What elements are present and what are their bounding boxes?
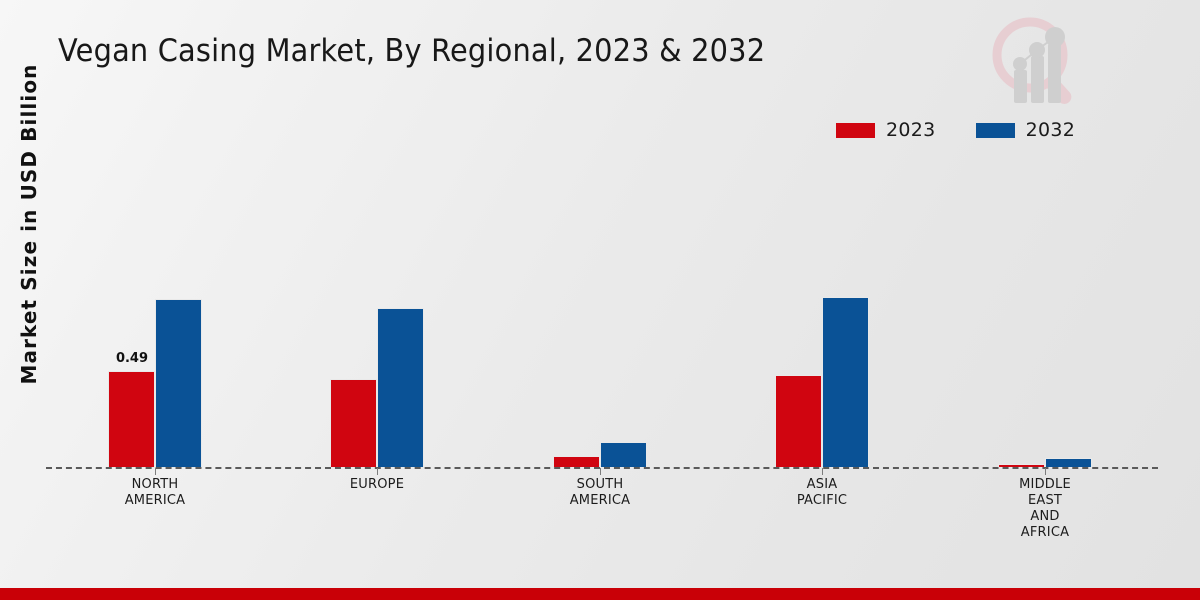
bar-group	[767, 150, 877, 468]
footer-accent-bar	[0, 588, 1200, 600]
market-research-logo-icon	[982, 8, 1088, 108]
bar-2032[interactable]	[377, 308, 424, 468]
x-axis-baseline	[46, 467, 1158, 469]
bars	[100, 150, 210, 468]
x-axis-tick	[155, 468, 156, 475]
category-label-line: EAST	[965, 493, 1125, 509]
category-label-line: AMERICA	[520, 493, 680, 509]
y-axis-title: Market Size in USD Billion	[17, 59, 41, 389]
bars	[767, 150, 877, 468]
chart-container: Vegan Casing Market, By Regional, 2023 &…	[0, 0, 1200, 600]
category-label-line: EUROPE	[297, 477, 457, 493]
category-label-line: AFRICA	[965, 525, 1125, 541]
bar-2032[interactable]	[600, 442, 647, 468]
x-axis-category-label: SOUTHAMERICA	[520, 477, 680, 509]
x-axis-tick	[1045, 468, 1046, 475]
x-axis-category-label: EUROPE	[297, 477, 457, 493]
legend-item-2023[interactable]: 2023	[836, 119, 936, 141]
bar-group	[100, 150, 210, 468]
bars	[322, 150, 432, 468]
legend-label-2023: 2023	[886, 119, 936, 141]
category-label-line: ASIA	[742, 477, 902, 493]
x-axis-tick	[822, 468, 823, 475]
chart-legend: 2023 2032	[836, 119, 1075, 141]
category-label-line: SOUTH	[520, 477, 680, 493]
bars	[545, 150, 655, 468]
x-axis-category-label: NORTHAMERICA	[75, 477, 235, 509]
bars	[990, 150, 1100, 468]
category-label-line: PACIFIC	[742, 493, 902, 509]
x-axis-category-label: ASIAPACIFIC	[742, 477, 902, 509]
legend-swatch-2023	[836, 123, 875, 138]
x-axis-category-label: MIDDLEEASTANDAFRICA	[965, 477, 1125, 541]
x-axis-tick	[600, 468, 601, 475]
x-axis-tick	[377, 468, 378, 475]
plot-area	[46, 150, 1158, 468]
category-label-line: AND	[965, 509, 1125, 525]
bar-2023[interactable]	[108, 371, 155, 468]
bar-group	[545, 150, 655, 468]
legend-item-2032[interactable]: 2032	[976, 119, 1076, 141]
legend-swatch-2032	[976, 123, 1015, 138]
bar-group	[322, 150, 432, 468]
bar-group	[990, 150, 1100, 468]
bar-2032[interactable]	[155, 299, 202, 468]
bar-value-label: 0.49	[77, 351, 187, 366]
category-label-line: MIDDLE	[965, 477, 1125, 493]
bar-2032[interactable]	[822, 297, 869, 468]
category-label-line: NORTH	[75, 477, 235, 493]
bar-2023[interactable]	[330, 379, 377, 468]
chart-title: Vegan Casing Market, By Regional, 2023 &…	[58, 33, 765, 69]
legend-label-2032: 2032	[1026, 119, 1076, 141]
bar-2023[interactable]	[775, 375, 822, 468]
category-label-line: AMERICA	[75, 493, 235, 509]
